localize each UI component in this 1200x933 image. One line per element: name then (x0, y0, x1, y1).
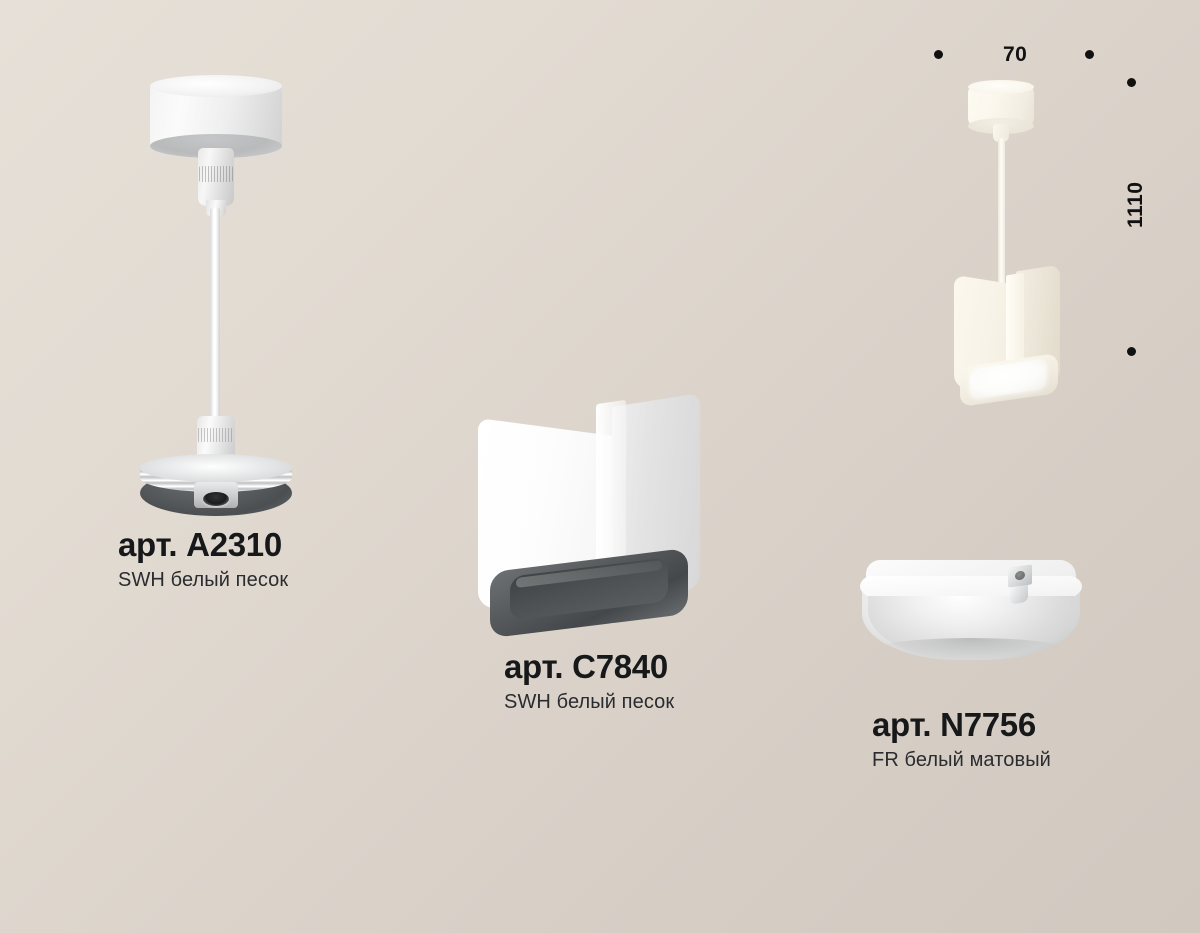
product-diagram-canvas: 70 1110 арт. A2310 SWH белый песок (0, 0, 1200, 933)
caption-c7840: арт. C7840 SWH белый песок (504, 650, 674, 713)
dimension-dot-right (1085, 50, 1094, 59)
dimension-dot-left (934, 50, 943, 59)
ceiling-canopy-top-face (150, 75, 282, 97)
caption-n7756: арт. N7756 FR белый матовый (872, 708, 1051, 771)
dimension-dot-bottom (1127, 347, 1136, 356)
dimension-dot-top (1127, 78, 1136, 87)
led-emitter (203, 492, 229, 506)
dimension-label-width: 70 (1003, 43, 1027, 67)
article-code-a2310: арт. A2310 (118, 528, 288, 563)
pendant-canopy-top-face (968, 80, 1034, 94)
article-code-c7840: арт. C7840 (504, 650, 674, 685)
article-code-n7756: арт. N7756 (872, 708, 1051, 743)
finish-a2310: SWH белый песок (118, 569, 288, 591)
pendant-suspension-cord (998, 138, 1005, 286)
dimension-label-drop: 1110 (1124, 182, 1148, 228)
diffuser-soft-shadow (876, 638, 1066, 660)
disc-lamp-top-rim (140, 454, 292, 482)
lower-socket-knurling (198, 428, 234, 442)
product-a2310-illustration (128, 78, 308, 518)
cord-connector-knurling (199, 166, 233, 182)
finish-n7756: FR белый матовый (872, 749, 1051, 771)
caption-a2310: арт. A2310 SWH белый песок (118, 528, 288, 591)
finish-c7840: SWH белый песок (504, 691, 674, 713)
pendant-assembly-illustration (940, 82, 1090, 422)
product-n7756-illustration (858, 552, 1090, 684)
product-c7840-illustration (476, 392, 720, 632)
